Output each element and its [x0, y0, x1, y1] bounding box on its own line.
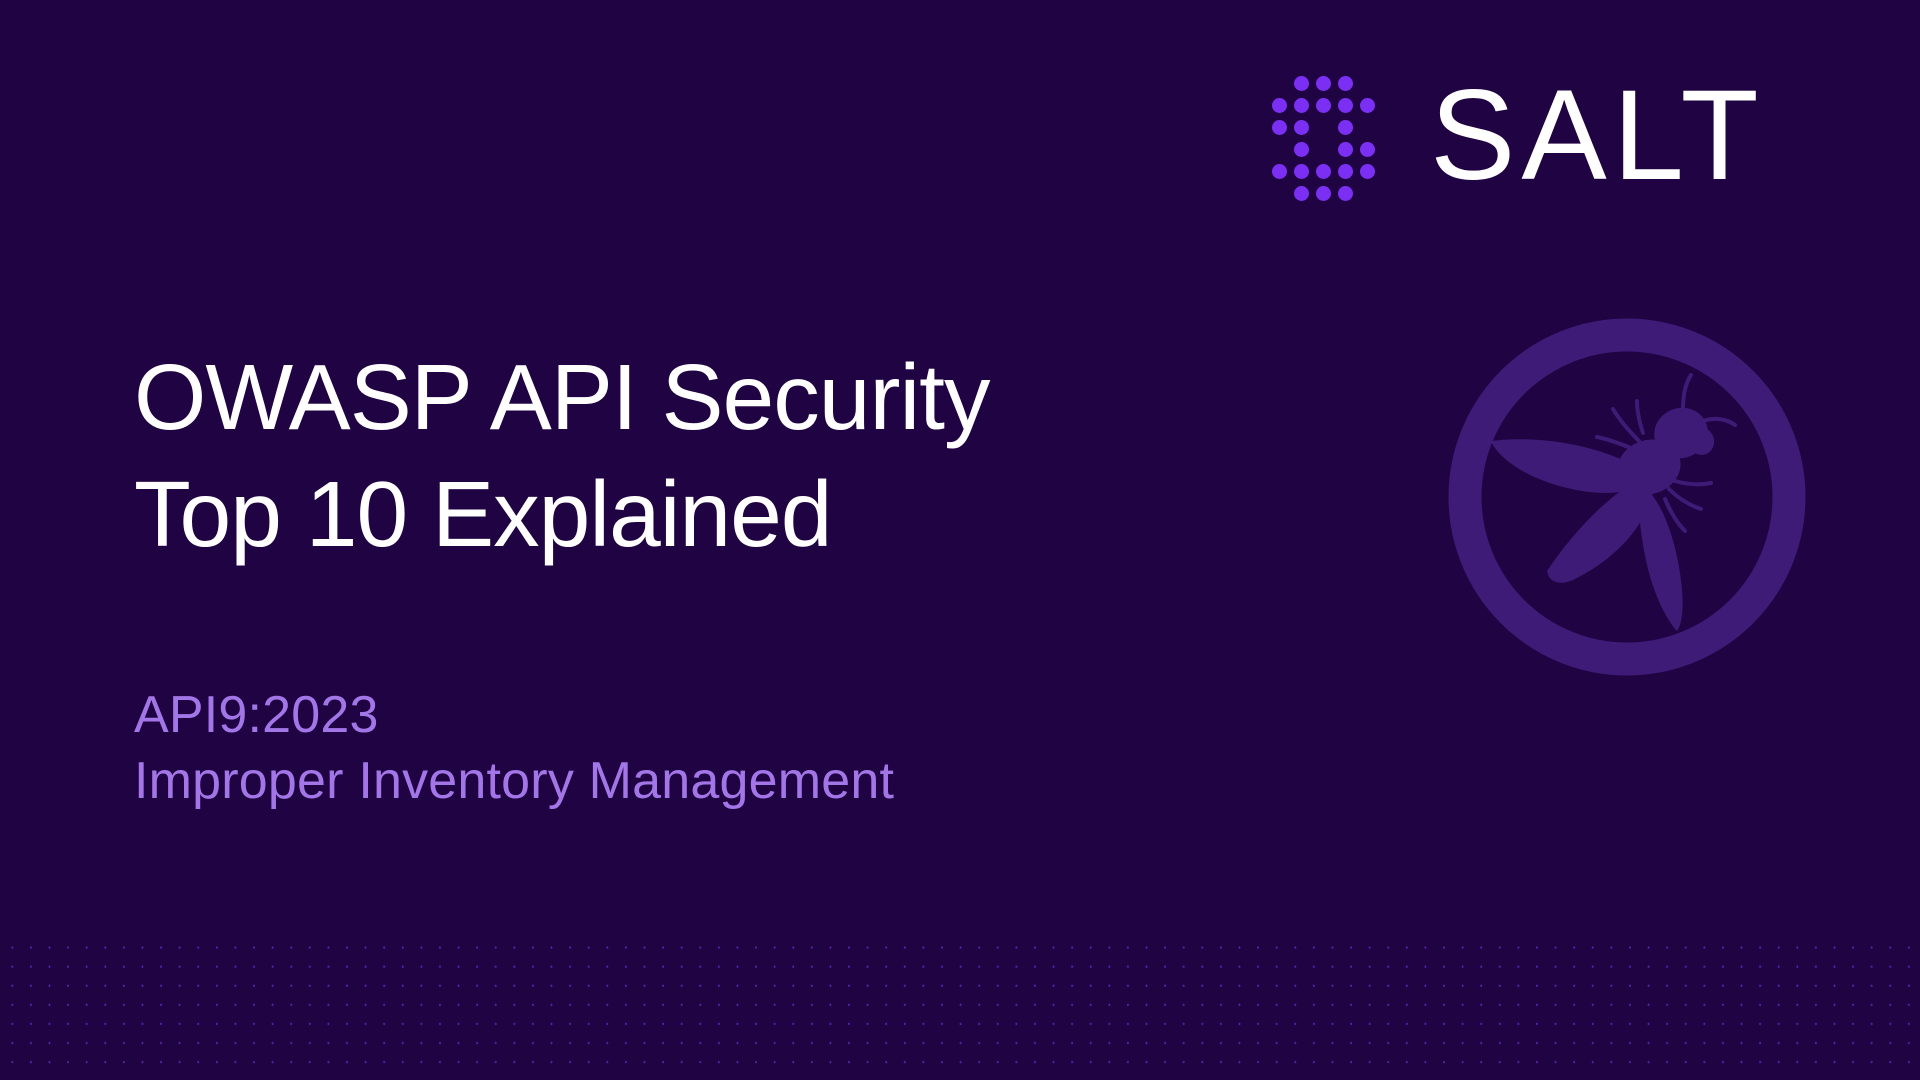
owasp-bee-icon	[1443, 313, 1811, 681]
salt-logo-dot-r2-c4	[1338, 98, 1353, 113]
salt-logo-dot-r4-c5	[1360, 142, 1375, 157]
salt-logo-dot-r3-c3	[1316, 120, 1331, 135]
salt-logo-dot-r2-c3	[1316, 98, 1331, 113]
salt-logo-dot-r3-c1	[1272, 120, 1287, 135]
salt-logo-dot-r6-c5	[1360, 186, 1375, 201]
salt-wordmark: SALT	[1430, 84, 1765, 189]
salt-logo-dot-r2-c5	[1360, 98, 1375, 113]
salt-logo-dot-r5-c4	[1338, 164, 1353, 179]
salt-logo-dot-r3-c4	[1338, 120, 1353, 135]
salt-dot-logo-icon	[1268, 72, 1378, 204]
salt-logo-dot-r5-c3	[1316, 164, 1331, 179]
salt-logo-dot-r4-c4	[1338, 142, 1353, 157]
salt-logo-dot-r6-c2	[1294, 186, 1309, 201]
title-slide: SALT	[0, 0, 1920, 1080]
api-risk-name: Improper Inventory Management	[134, 748, 894, 814]
salt-logo-dot-r6-c1	[1272, 186, 1287, 201]
salt-logo-dot-r6-c4	[1338, 186, 1353, 201]
salt-logo-dot-r1-c4	[1338, 76, 1353, 91]
salt-logo-dot-r2-c2	[1294, 98, 1309, 113]
page-title: OWASP API Security Top 10 Explained	[134, 339, 989, 573]
page-subtitle: API9:2023 Improper Inventory Management	[134, 682, 894, 814]
salt-logo-dot-r3-c2	[1294, 120, 1309, 135]
salt-logo-dot-r3-c5	[1360, 120, 1375, 135]
salt-logo-dot-r1-c3	[1316, 76, 1331, 91]
dot-pattern-decoration	[0, 933, 1920, 1080]
salt-logo-dot-r6-c3	[1316, 186, 1331, 201]
salt-logo-dot-r1-c5	[1360, 76, 1375, 91]
salt-logo-dot-r5-c2	[1294, 164, 1309, 179]
page-title-line-1: OWASP API Security	[134, 339, 989, 456]
salt-logo-dot-r5-c1	[1272, 164, 1287, 179]
salt-logo-dot-r4-c1	[1272, 142, 1287, 157]
salt-logo-dot-r1-c2	[1294, 76, 1309, 91]
page-title-line-2: Top 10 Explained	[134, 456, 989, 573]
salt-logo-dot-r4-c2	[1294, 142, 1309, 157]
api-risk-id: API9:2023	[134, 682, 894, 748]
salt-logo-dot-r2-c1	[1272, 98, 1287, 113]
salt-logo-dot-r1-c1	[1272, 76, 1287, 91]
salt-brand-lockup: SALT	[1268, 72, 1765, 204]
salt-logo-dot-r4-c3	[1316, 142, 1331, 157]
salt-logo-dot-r5-c5	[1360, 164, 1375, 179]
